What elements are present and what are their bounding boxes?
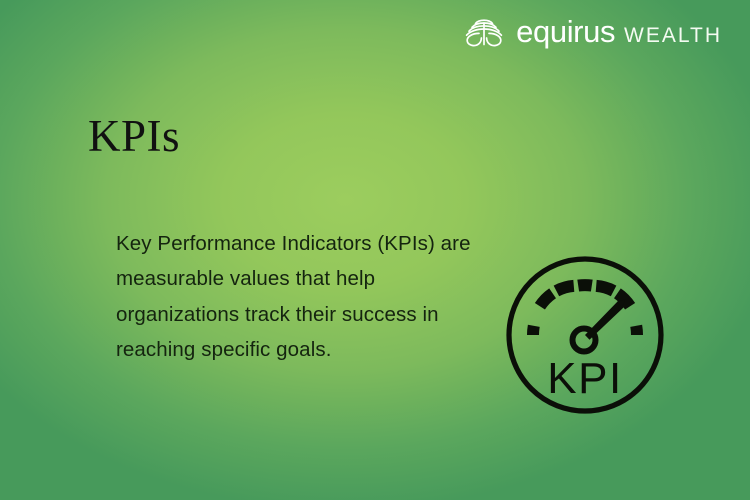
- page-title: KPIs: [88, 112, 180, 162]
- brand-subname: WEALTH: [624, 25, 722, 46]
- kpi-gauge-icon: KPI: [505, 255, 665, 415]
- brand-wordmark: equirus WEALTH: [516, 16, 722, 47]
- brand-lockup: equirus WEALTH: [461, 11, 722, 51]
- slide-canvas: equirus WEALTH KPIs Key Performance Indi…: [0, 0, 750, 500]
- body-paragraph: Key Performance Indicators (KPIs) are me…: [116, 226, 496, 367]
- equirus-tree-logo-icon: [461, 11, 507, 51]
- brand-name: equirus: [516, 16, 615, 47]
- kpi-icon-label: KPI: [547, 354, 622, 403]
